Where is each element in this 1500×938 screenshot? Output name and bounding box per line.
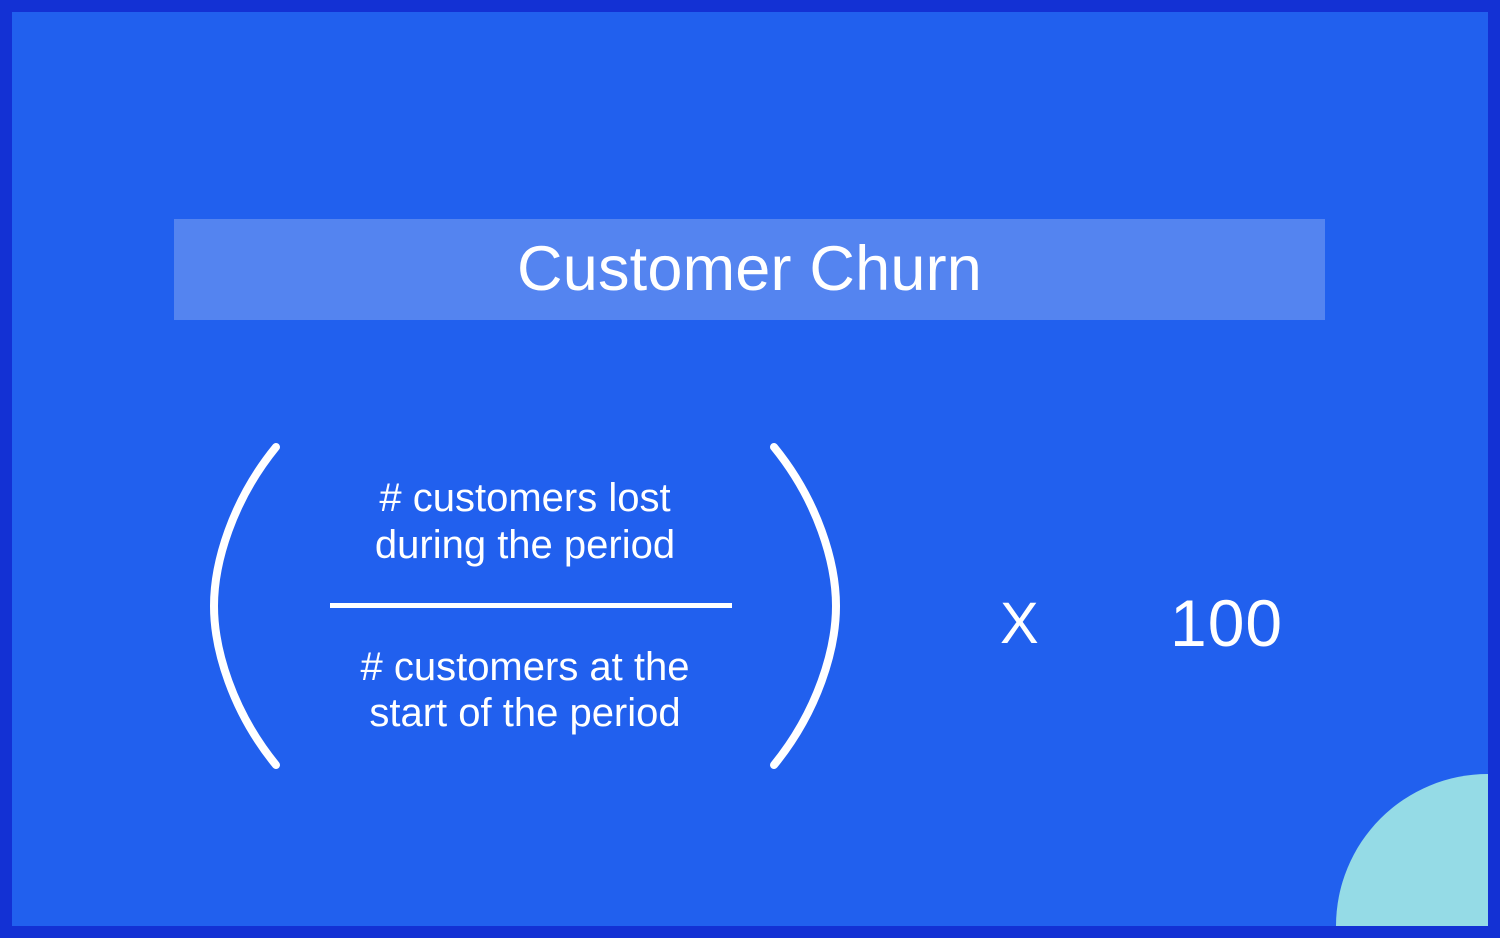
slide-canvas: Customer Churn # customers lost during t… [12, 12, 1488, 926]
parenthesised-fraction: # customers lost during the period # cus… [210, 443, 840, 769]
slide-root: Customer Churn # customers lost during t… [0, 0, 1500, 938]
corner-accent-shape [1336, 774, 1488, 926]
open-paren-icon [210, 443, 282, 769]
formula-container: # customers lost during the period # cus… [12, 430, 1488, 790]
multiply-operator: X [1000, 595, 1039, 653]
fraction-denominator: # customers at the start of the period [360, 644, 689, 737]
fraction-bar [330, 603, 732, 608]
multiplier-value: 100 [1170, 590, 1283, 656]
fraction-numerator: # customers lost during the period [375, 475, 675, 568]
close-paren-icon [768, 443, 840, 769]
page-title: Customer Churn [517, 238, 982, 301]
title-banner: Customer Churn [174, 219, 1325, 320]
